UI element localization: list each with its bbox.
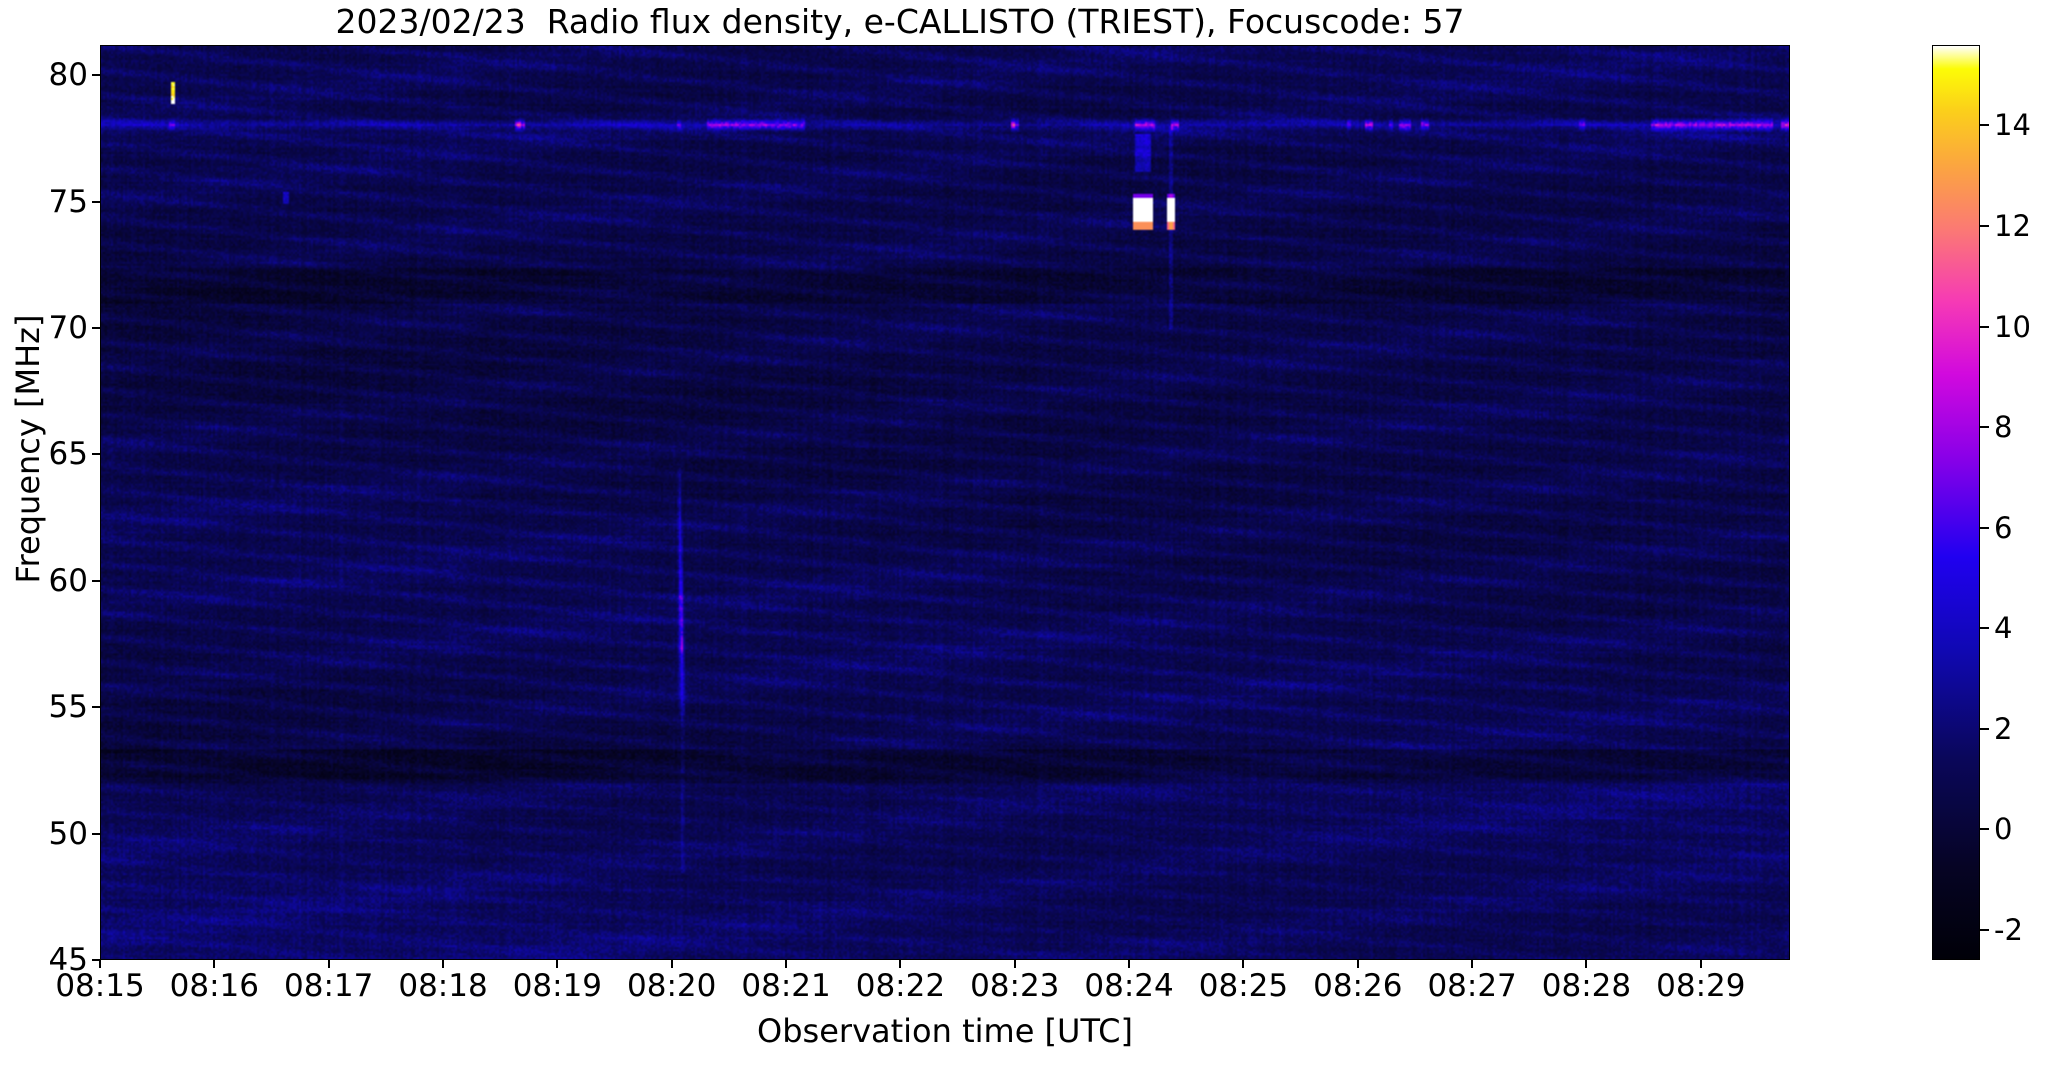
colorbar-tick-mark (1980, 225, 1989, 227)
y-tick-mark (92, 580, 100, 582)
y-tick-mark (92, 327, 100, 329)
colorbar-tick-mark (1980, 426, 1989, 428)
chart-title: 2023/02/23 Radio flux density, e-CALLIST… (0, 2, 1800, 41)
x-tick-mark (1471, 960, 1473, 968)
x-tick-label: 08:23 (970, 968, 1059, 1004)
x-tick-label: 08:16 (170, 968, 259, 1004)
x-axis-label: Observation time [UTC] (100, 1012, 1790, 1050)
y-tick-mark (92, 706, 100, 708)
x-tick-label: 08:26 (1313, 968, 1402, 1004)
x-tick-label: 08:18 (398, 968, 487, 1004)
x-tick-label: 08:20 (627, 968, 716, 1004)
colorbar-tick-label: -2 (1994, 913, 2023, 947)
x-tick-mark (785, 960, 787, 968)
colorbar-tick-label: 2 (1994, 712, 2012, 746)
colorbar-tick-mark (1980, 326, 1989, 328)
colorbar (1932, 45, 1980, 960)
spectrogram-image (101, 46, 1790, 960)
colorbar-tick-label: 8 (1994, 410, 2012, 444)
colorbar-tick-label: 12 (1994, 209, 2031, 243)
y-tick-mark (92, 453, 100, 455)
colorbar-tick-label: 0 (1994, 812, 2012, 846)
y-tick-label: 50 (10, 816, 88, 852)
y-tick-mark (92, 833, 100, 835)
x-tick-mark (1585, 960, 1587, 968)
x-tick-mark (1128, 960, 1130, 968)
x-tick-mark (328, 960, 330, 968)
x-tick-mark (99, 960, 101, 968)
x-tick-label: 08:19 (513, 968, 602, 1004)
x-tick-mark (1357, 960, 1359, 968)
y-tick-label: 80 (10, 57, 88, 93)
x-tick-mark (1014, 960, 1016, 968)
x-tick-label: 08:29 (1656, 968, 1745, 1004)
y-axis-label: Frequency [MHz] (9, 199, 47, 699)
figure-root: 2023/02/23 Radio flux density, e-CALLIST… (0, 0, 2047, 1067)
x-tick-label: 08:28 (1542, 968, 1631, 1004)
colorbar-tick-mark (1980, 124, 1989, 126)
y-tick-mark (92, 74, 100, 76)
x-tick-mark (556, 960, 558, 968)
x-tick-mark (442, 960, 444, 968)
colorbar-tick-mark (1980, 627, 1989, 629)
x-tick-mark (1700, 960, 1702, 968)
x-tick-mark (1242, 960, 1244, 968)
x-tick-mark (213, 960, 215, 968)
x-tick-label: 08:15 (55, 968, 144, 1004)
x-tick-label: 08:27 (1427, 968, 1516, 1004)
spectrogram-axes (100, 45, 1790, 960)
colorbar-tick-mark (1980, 828, 1989, 830)
colorbar-tick-label: 4 (1994, 611, 2012, 645)
x-tick-mark (899, 960, 901, 968)
colorbar-tick-label: 14 (1994, 108, 2031, 142)
x-tick-label: 08:25 (1199, 968, 1288, 1004)
colorbar-tick-mark (1980, 929, 1989, 931)
colorbar-tick-mark (1980, 728, 1989, 730)
colorbar-tick-mark (1980, 527, 1989, 529)
x-tick-label: 08:17 (284, 968, 373, 1004)
x-tick-label: 08:24 (1084, 968, 1173, 1004)
colorbar-tick-label: 6 (1994, 511, 2012, 545)
x-tick-mark (671, 960, 673, 968)
y-tick-mark (92, 201, 100, 203)
colorbar-tick-label: 10 (1994, 310, 2031, 344)
x-tick-label: 08:22 (856, 968, 945, 1004)
colorbar-gradient (1933, 46, 1979, 959)
x-tick-label: 08:21 (741, 968, 830, 1004)
